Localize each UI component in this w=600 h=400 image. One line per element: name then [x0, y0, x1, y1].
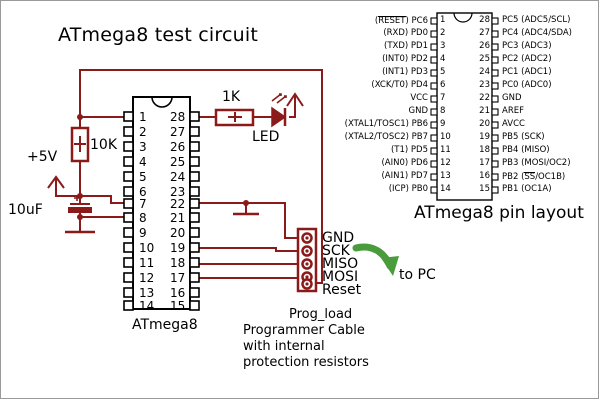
pinout-right-num-24: 24: [472, 68, 490, 77]
pinout-right-label-20: AVCC: [502, 120, 525, 129]
pinout-right-num-15: 15: [472, 185, 490, 194]
pinout-left-num-10: 10: [440, 133, 451, 142]
pinout-right-num-18: 18: [472, 146, 490, 155]
pinout-left-num-1: 1: [440, 16, 445, 25]
pinout-left-label-7: VCC: [0, 94, 428, 103]
pinout-left-num-12: 12: [440, 159, 451, 168]
pinout-left-num-14: 14: [440, 185, 451, 194]
pinout-right-num-28: 28: [472, 16, 490, 25]
pinout-right-label-15: PB1 (OC1A): [502, 185, 552, 194]
pinout-left-num-2: 2: [440, 29, 445, 38]
pinout-left-label-9: (XTAL1/TOSC1) PB6: [0, 120, 428, 129]
pinout-left-num-5: 5: [440, 68, 445, 77]
pinout-left-label-4: (INT0) PD2: [0, 55, 428, 64]
pinout-left-num-3: 3: [440, 42, 445, 51]
pinout-right-num-16: 16: [472, 172, 490, 181]
pinout-right-label-18: PB4 (MISO): [502, 146, 550, 155]
pinout-right-num-21: 21: [472, 107, 490, 116]
pinout-right-label-23: PC0 (ADC0): [502, 81, 552, 90]
pinout-right-label-21: AREF: [502, 107, 524, 116]
pinout-left-label-13: (AIN1) PD7: [0, 172, 428, 181]
pinout-right-num-25: 25: [472, 55, 490, 64]
pinout-right-label-19: PB5 (SCK): [502, 133, 545, 142]
pinout-right-label-16: PB2 (SS/OC1B): [502, 172, 565, 182]
pinout-left-label-12: (AIN0) PD6: [0, 159, 428, 168]
pinout-left-num-8: 8: [440, 107, 445, 116]
pinout-right-label-25: PC2 (ADC2): [502, 55, 552, 64]
pinout-right-label-27: PC4 (ADC4/SDA): [502, 29, 572, 38]
schematic-figure: ATmega8 test circuit 10K +5V 10uF 1K LED…: [0, 0, 600, 400]
pinout-left-label-3: (TXD) PD1: [0, 42, 428, 51]
pinout-left-num-11: 11: [440, 146, 451, 155]
pinout-left-label-5: (INT1) PD3: [0, 68, 428, 77]
pinout-left-label-1: (RESET) PC6: [0, 16, 428, 26]
pinout-left-label-11: (T1) PD5: [0, 146, 428, 155]
pinout-left-num-9: 9: [440, 120, 445, 129]
pinout-right-label-28: PC5 (ADC5/SCL): [502, 16, 570, 25]
pinout-left-label-14: (ICP) PB0: [0, 185, 428, 194]
pinout-right-num-27: 27: [472, 29, 490, 38]
pinout-right-num-26: 26: [472, 42, 490, 51]
pinout-right-num-23: 23: [472, 81, 490, 90]
pinout-right-num-17: 17: [472, 159, 490, 168]
pinout-left-label-2: (RXD) PD0: [0, 29, 428, 38]
pinout-title: ATmega8 pin layout: [414, 205, 584, 222]
pinout-right-num-22: 22: [472, 94, 490, 103]
pinout-right-num-19: 19: [472, 133, 490, 142]
pinout-left-num-6: 6: [440, 81, 445, 90]
pinout-right-label-17: PB3 (MOSI/OC2): [502, 159, 571, 168]
pinout-right-label-22: GND: [502, 94, 522, 103]
pinout-left-num-7: 7: [440, 94, 445, 103]
pinout-right-num-20: 20: [472, 120, 490, 129]
pinout-right-label-24: PC1 (ADC1): [502, 68, 552, 77]
pinout-left-label-10: (XTAL2/TOSC2) PB7: [0, 133, 428, 142]
pinout-left-num-4: 4: [440, 55, 445, 64]
pinout-right-label-26: PC3 (ADC3): [502, 42, 552, 51]
pinout-left-label-8: GND: [0, 107, 428, 116]
pinout-left-label-6: (XCK/T0) PD4: [0, 81, 428, 90]
pinout-left-num-13: 13: [440, 172, 451, 181]
